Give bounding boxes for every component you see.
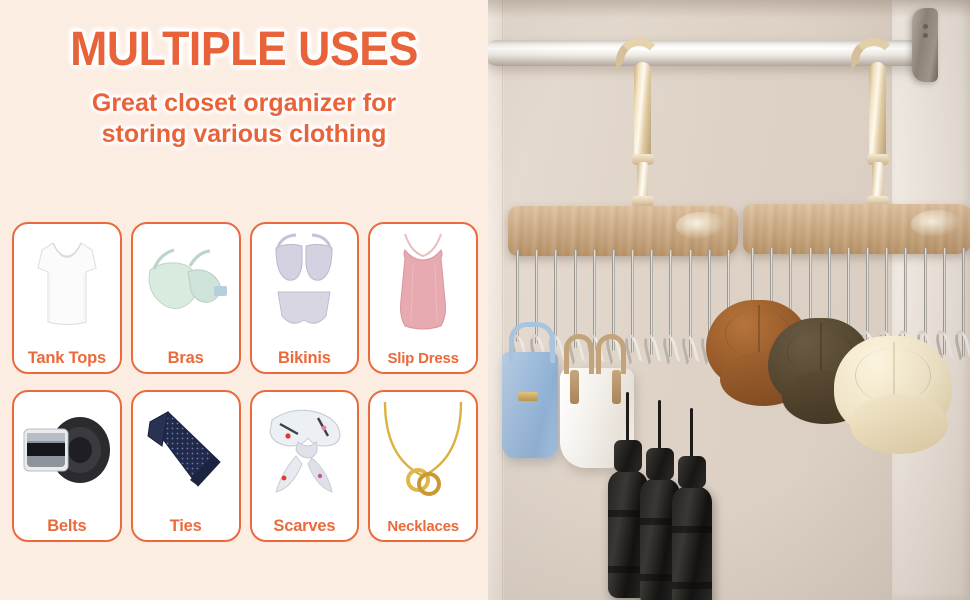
use-case-label: Slip Dress (387, 351, 458, 366)
headline-block: MULTIPLE USES Great closet organizer for… (0, 0, 488, 149)
umbrella-handle (678, 456, 706, 488)
use-case-label: Bras (168, 350, 204, 367)
s-hook (661, 333, 681, 365)
s-hook (953, 329, 970, 361)
umbrella-handle (614, 440, 642, 472)
handbag-blue (502, 352, 558, 458)
umbrella (672, 486, 712, 600)
baseball-cap-cream (834, 336, 952, 434)
infographic-root: MULTIPLE USES Great closet organizer for… (0, 0, 970, 600)
subtitle-line-2: storing various clothing (18, 119, 470, 150)
use-case-card[interactable]: Belts (12, 390, 122, 542)
wall-seam (502, 0, 503, 600)
handbag-clasp (518, 392, 538, 401)
umbrella-strap (626, 392, 629, 442)
page-title: MULTIPLE USES (34, 26, 454, 74)
s-hook (642, 333, 662, 365)
slip-dress-icon (370, 228, 476, 336)
use-case-label: Tank Tops (28, 350, 106, 367)
handbag-strap (596, 334, 626, 374)
necktie-icon (133, 396, 239, 504)
hanger-rod (554, 250, 557, 346)
use-case-card[interactable]: Scarves (250, 390, 360, 542)
bikini-set-icon (252, 228, 358, 336)
ceiling-shadow (488, 0, 970, 18)
use-case-card[interactable]: Bikinis (250, 222, 360, 374)
hanger-wood-bar (508, 206, 738, 256)
scarf-icon (252, 396, 358, 504)
umbrella-band (672, 526, 712, 533)
use-case-card[interactable]: Ties (131, 390, 241, 542)
page-subtitle: Great closet organizer for storing vario… (18, 88, 470, 149)
belt-icon (14, 396, 120, 504)
s-hook (680, 333, 700, 365)
bracket-screw (923, 24, 928, 29)
necklace-icon (370, 396, 476, 504)
use-case-label: Scarves (273, 518, 335, 535)
bra-icon (133, 228, 239, 336)
rod-wall-bracket (912, 8, 938, 82)
use-case-card[interactable]: Necklaces (368, 390, 478, 542)
umbrella-strap (690, 408, 693, 458)
use-case-label: Ties (170, 518, 202, 535)
product-photo (488, 0, 970, 600)
subtitle-line-1: Great closet organizer for (18, 88, 470, 119)
use-case-grid: Tank Tops Bras (12, 222, 478, 542)
use-case-card[interactable]: Tank Tops (12, 222, 122, 374)
umbrella-handle (646, 448, 674, 480)
handbag-tab (612, 370, 621, 404)
use-case-label: Belts (47, 518, 86, 535)
use-case-card[interactable]: Bras (131, 222, 241, 374)
hanger-hook-arm (634, 62, 651, 158)
use-case-label: Bikinis (278, 350, 331, 367)
use-case-card[interactable]: Slip Dress (368, 222, 478, 374)
hanger-hook-arm (869, 62, 886, 158)
info-panel: MULTIPLE USES Great closet organizer for… (0, 0, 488, 600)
hanger-wood-bar (743, 204, 970, 254)
umbrella-band (672, 582, 712, 589)
tank-top-icon (14, 228, 120, 336)
use-case-label: Necklaces (387, 519, 459, 534)
handbag-strap (564, 334, 594, 374)
handbag-tab (570, 370, 579, 404)
cap-brim (850, 394, 948, 454)
umbrella-strap (658, 400, 661, 450)
